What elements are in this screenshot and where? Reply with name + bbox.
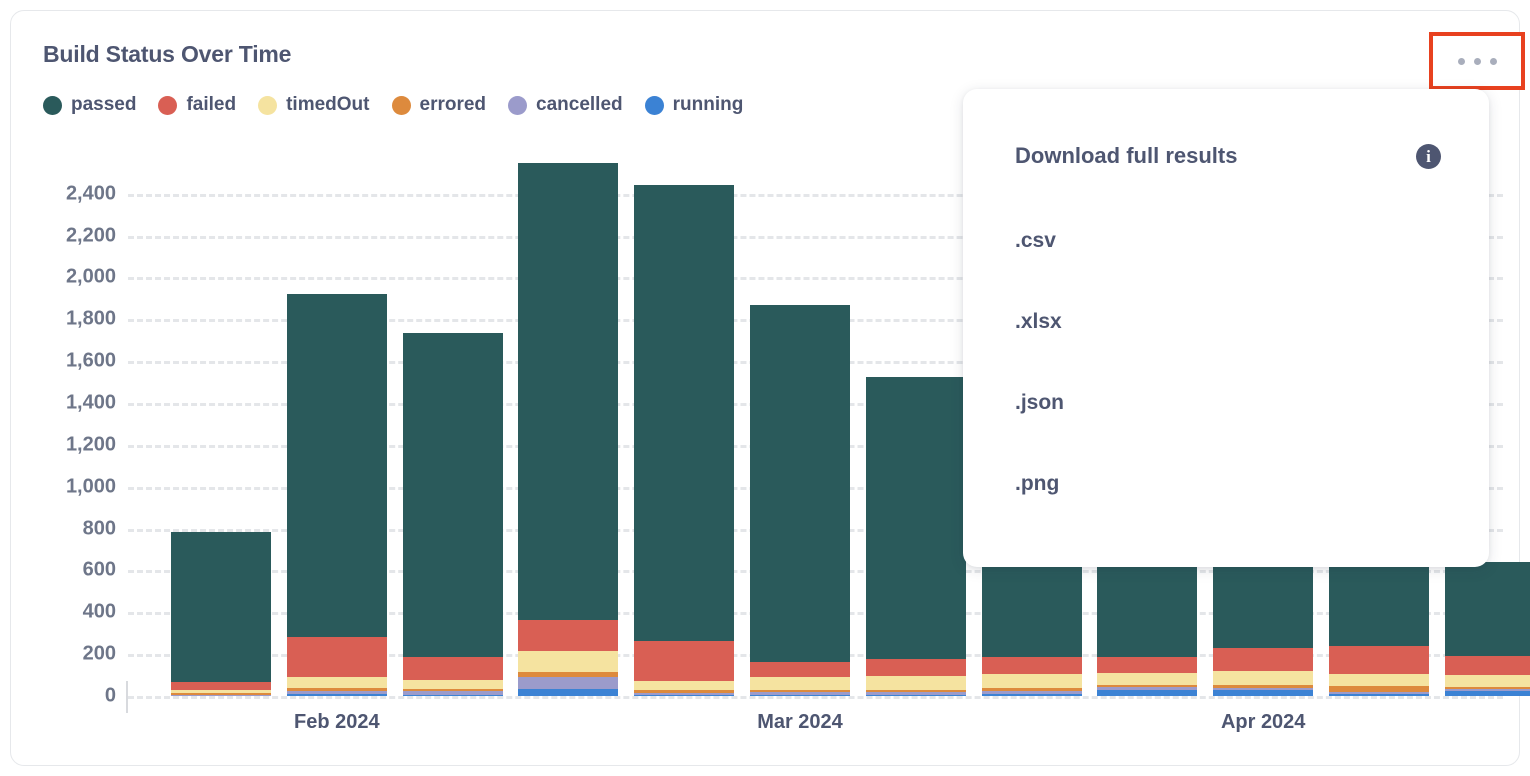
dropdown-item-csv[interactable]: .csv xyxy=(1015,229,1056,253)
ellipsis-icon xyxy=(1474,58,1481,65)
bar-segment-passed[interactable] xyxy=(403,333,503,657)
bar-segment-errored[interactable] xyxy=(171,693,271,695)
bar-segment-errored[interactable] xyxy=(1445,687,1530,689)
legend-label: timedOut xyxy=(286,94,369,116)
bar-segment-passed[interactable] xyxy=(518,163,618,619)
x-axis-tick-label: Mar 2024 xyxy=(757,711,843,734)
bar-segment-errored[interactable] xyxy=(1329,686,1429,692)
bar-segment-timedout[interactable] xyxy=(171,690,271,693)
bar-segment-running[interactable] xyxy=(1445,691,1530,696)
bar-segment-cancelled[interactable] xyxy=(982,691,1082,694)
bar-segment-cancelled[interactable] xyxy=(1213,688,1313,691)
bar-segment-errored[interactable] xyxy=(750,690,850,692)
chart-bar[interactable] xyxy=(750,305,850,696)
bar-segment-failed[interactable] xyxy=(171,682,271,690)
y-axis-tick-label: 2,000 xyxy=(16,266,116,289)
legend-label: cancelled xyxy=(536,94,623,116)
y-axis-line xyxy=(126,681,128,713)
legend-swatch-failed-icon xyxy=(158,96,177,115)
bar-segment-running[interactable] xyxy=(1329,694,1429,696)
y-axis-tick-label: 2,200 xyxy=(16,224,116,247)
download-dropdown-menu: Download full results i .csv.xlsx.json.p… xyxy=(963,89,1489,567)
bar-segment-running[interactable] xyxy=(518,689,618,696)
bar-segment-errored[interactable] xyxy=(1213,685,1313,688)
legend-label: passed xyxy=(71,94,136,116)
bar-segment-timedout[interactable] xyxy=(287,677,387,689)
y-axis-tick-label: 400 xyxy=(16,601,116,624)
legend-label: failed xyxy=(186,94,236,116)
x-axis-tick-label: Feb 2024 xyxy=(294,711,380,734)
bar-segment-failed[interactable] xyxy=(866,659,966,676)
bar-segment-timedout[interactable] xyxy=(1445,675,1530,687)
bar-segment-failed[interactable] xyxy=(634,641,734,681)
bar-segment-timedout[interactable] xyxy=(750,677,850,690)
bar-segment-cancelled[interactable] xyxy=(866,692,966,695)
chart-legend: passedfailedtimedOuterroredcancelledrunn… xyxy=(43,91,743,119)
bar-segment-failed[interactable] xyxy=(403,657,503,680)
bar-segment-failed[interactable] xyxy=(982,657,1082,674)
ellipsis-icon xyxy=(1458,58,1465,65)
bar-segment-passed[interactable] xyxy=(1097,562,1197,657)
bar-segment-failed[interactable] xyxy=(1329,646,1429,674)
y-axis-tick-label: 1,000 xyxy=(16,475,116,498)
bar-segment-passed[interactable] xyxy=(1329,562,1429,646)
chart-bar[interactable] xyxy=(518,163,618,696)
legend-label: running xyxy=(673,94,744,116)
bar-segment-passed[interactable] xyxy=(750,305,850,662)
bar-segment-timedout[interactable] xyxy=(518,651,618,672)
bar-segment-timedout[interactable] xyxy=(403,680,503,689)
chart-bar[interactable] xyxy=(403,333,503,696)
bar-segment-passed[interactable] xyxy=(171,532,271,682)
bar-segment-passed[interactable] xyxy=(287,294,387,637)
bar-segment-passed[interactable] xyxy=(1213,562,1313,648)
chart-bar[interactable] xyxy=(1213,562,1313,696)
bar-segment-running[interactable] xyxy=(982,694,1082,696)
bar-segment-failed[interactable] xyxy=(1213,648,1313,671)
bar-segment-timedout[interactable] xyxy=(1329,674,1429,686)
legend-item-running[interactable]: running xyxy=(645,94,744,116)
gridline xyxy=(128,612,1503,615)
legend-swatch-passed-icon xyxy=(43,96,62,115)
bar-segment-cancelled[interactable] xyxy=(287,691,387,695)
y-axis-tick-label: 800 xyxy=(16,517,116,540)
chart-bar[interactable] xyxy=(171,532,271,696)
bar-segment-failed[interactable] xyxy=(750,662,850,678)
y-axis-tick-label: 600 xyxy=(16,559,116,582)
legend-item-cancelled[interactable]: cancelled xyxy=(508,94,623,116)
y-axis-tick-label: 1,800 xyxy=(16,308,116,331)
bar-segment-errored[interactable] xyxy=(634,690,734,693)
bar-segment-errored[interactable] xyxy=(1097,685,1197,687)
bar-segment-cancelled[interactable] xyxy=(403,691,503,694)
x-axis-tick-label: Apr 2024 xyxy=(1221,711,1306,734)
bar-segment-errored[interactable] xyxy=(982,688,1082,691)
legend-label: errored xyxy=(420,94,487,116)
legend-swatch-timedout-icon xyxy=(258,96,277,115)
chart-options-menu-button[interactable] xyxy=(1429,32,1525,90)
bar-segment-running[interactable] xyxy=(750,695,850,696)
page-title: Build Status Over Time xyxy=(43,41,291,68)
bar-segment-timedout[interactable] xyxy=(1097,673,1197,686)
dropdown-item-png[interactable]: .png xyxy=(1015,472,1059,496)
bar-segment-cancelled[interactable] xyxy=(518,677,618,689)
legend-item-passed[interactable]: passed xyxy=(43,94,136,116)
bar-segment-timedout[interactable] xyxy=(634,681,734,690)
y-axis-tick-label: 0 xyxy=(16,685,116,708)
bar-segment-passed[interactable] xyxy=(866,377,966,659)
bar-segment-running[interactable] xyxy=(866,695,966,696)
bar-segment-errored[interactable] xyxy=(518,672,618,677)
chart-bar[interactable] xyxy=(866,377,966,696)
bar-segment-errored[interactable] xyxy=(866,690,966,692)
legend-item-errored[interactable]: errored xyxy=(392,94,487,116)
dropdown-header: Download full results i xyxy=(1015,143,1441,169)
bar-segment-cancelled[interactable] xyxy=(171,695,271,696)
chart-bar[interactable] xyxy=(1097,562,1197,696)
legend-swatch-running-icon xyxy=(645,96,664,115)
dropdown-item-xlsx[interactable]: .xlsx xyxy=(1015,310,1062,334)
bar-segment-errored[interactable] xyxy=(287,688,387,690)
y-axis-tick-label: 1,400 xyxy=(16,391,116,414)
y-axis-labels: 02004006008001,0001,2001,4001,6001,8002,… xyxy=(11,11,116,767)
bar-segment-cancelled[interactable] xyxy=(750,692,850,695)
chart-bar[interactable] xyxy=(1445,562,1530,696)
bar-segment-passed[interactable] xyxy=(634,185,734,641)
bar-segment-running[interactable] xyxy=(634,695,734,696)
legend-swatch-cancelled-icon xyxy=(508,96,527,115)
gridline xyxy=(128,654,1503,657)
bar-segment-timedout[interactable] xyxy=(1213,671,1313,685)
chart-bar[interactable] xyxy=(287,294,387,696)
legend-item-failed[interactable]: failed xyxy=(158,94,236,116)
legend-item-timedout[interactable]: timedOut xyxy=(258,94,369,116)
y-axis-tick-label: 1,600 xyxy=(16,350,116,373)
bar-segment-timedout[interactable] xyxy=(982,674,1082,689)
chart-card: Build Status Over Time passedfailedtimed… xyxy=(10,10,1520,766)
bar-segment-failed[interactable] xyxy=(518,620,618,651)
ellipsis-icon xyxy=(1490,58,1497,65)
bar-segment-cancelled[interactable] xyxy=(1445,689,1530,692)
y-axis-tick-label: 1,200 xyxy=(16,433,116,456)
legend-swatch-errored-icon xyxy=(392,96,411,115)
info-icon[interactable]: i xyxy=(1416,144,1441,169)
bar-segment-cancelled[interactable] xyxy=(1097,687,1197,690)
y-axis-tick-label: 2,400 xyxy=(16,182,116,205)
bar-segment-errored[interactable] xyxy=(403,689,503,691)
chart-bar[interactable] xyxy=(1329,562,1429,696)
bar-segment-running[interactable] xyxy=(1097,690,1197,696)
dropdown-item-json[interactable]: .json xyxy=(1015,391,1064,415)
gridline xyxy=(128,696,1503,699)
chart-bar[interactable] xyxy=(634,185,734,696)
bar-segment-cancelled[interactable] xyxy=(634,693,734,695)
gridline xyxy=(128,570,1503,573)
bar-segment-timedout[interactable] xyxy=(866,676,966,691)
bar-segment-running[interactable] xyxy=(403,695,503,696)
bar-segment-failed[interactable] xyxy=(1445,656,1530,675)
bar-segment-failed[interactable] xyxy=(287,637,387,677)
bar-segment-cancelled[interactable] xyxy=(1329,692,1429,694)
bar-segment-failed[interactable] xyxy=(1097,657,1197,673)
dropdown-header-label: Download full results xyxy=(1015,143,1237,169)
y-axis-tick-label: 200 xyxy=(16,643,116,666)
bar-segment-passed[interactable] xyxy=(1445,562,1530,656)
bar-segment-running[interactable] xyxy=(1213,690,1313,696)
bar-segment-running[interactable] xyxy=(287,694,387,696)
